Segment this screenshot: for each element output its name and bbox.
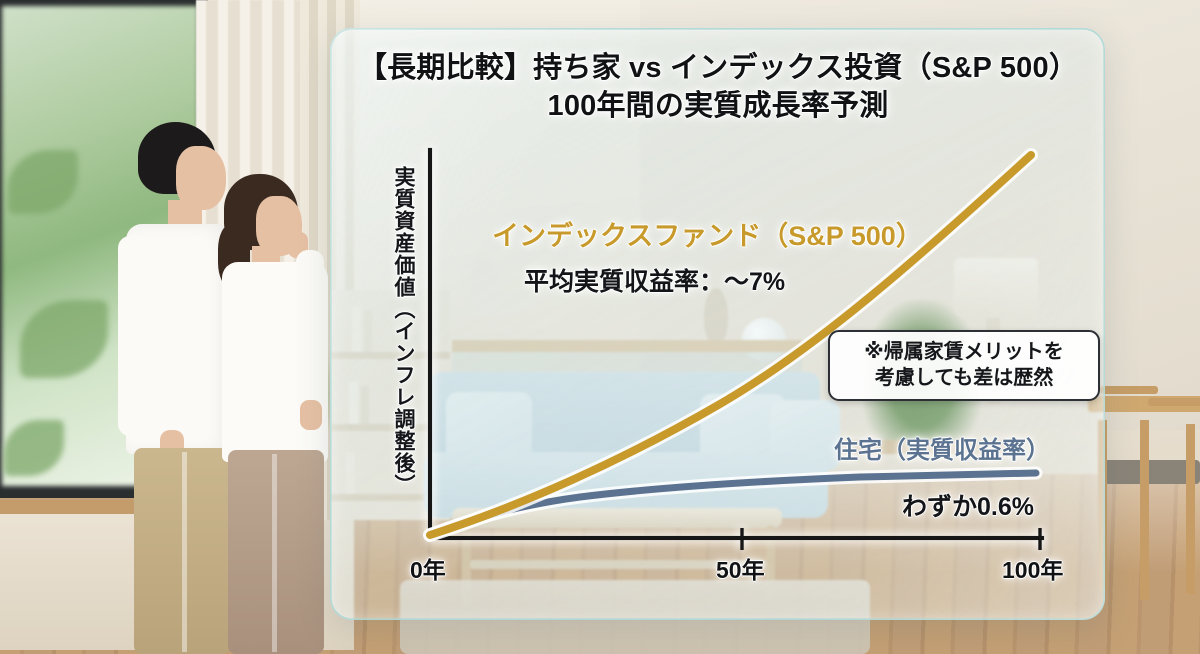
series-label-housing: 住宅（実質収益率） [834,430,1050,465]
callout-line-1: ※帰属家賃メリットを [838,339,1090,365]
series-rate-housing: わずか0.6% [902,487,1034,523]
callout-line-2: 考慮しても差は歴然 [838,365,1090,391]
x-tick-label-100: 100年 [1002,551,1063,585]
callout-note: ※帰属家賃メリットを 考慮しても差は歴然 [828,330,1100,401]
x-tick-label-50: 50年 [716,551,765,585]
screenshot-root: 【長期比較】持ち家 vs インデックス投資（S&P 500） 100年間の実質成… [0,0,1200,654]
chart-overlay: 【長期比較】持ち家 vs インデックス投資（S&P 500） 100年間の実質成… [0,0,1200,654]
series-label-index-fund: インデックスファンド（S&P 500） [492,214,923,253]
x-tick-label-0: 0年 [410,551,446,585]
series-rate-index-fund: 平均実質収益率：〜7% [524,262,785,298]
